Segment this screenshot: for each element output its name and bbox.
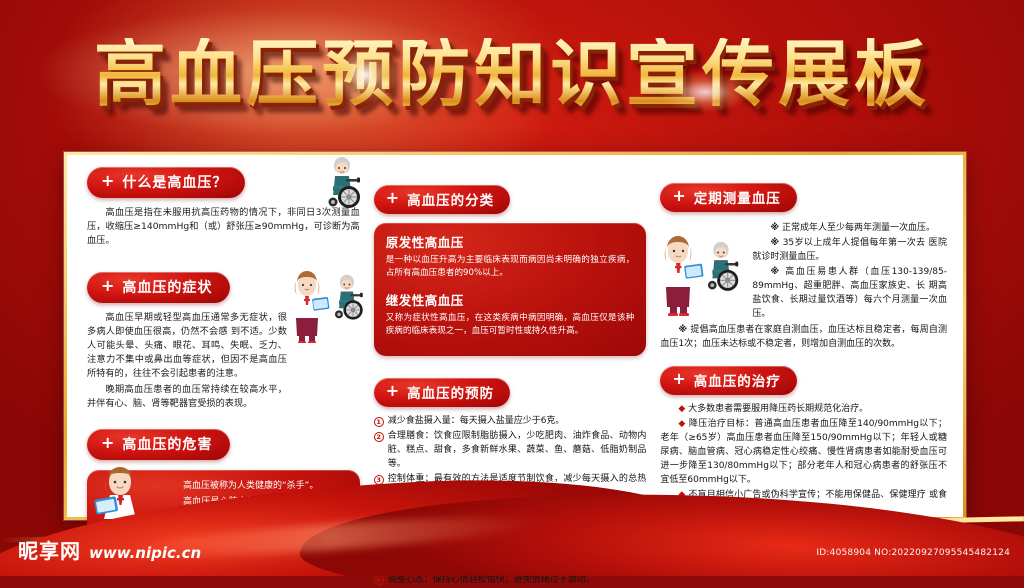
list-item-text: 提倡高血压患者在家庭自测血压，血压达标且稳定者，每周自测血压1次；血压未达标或不…: [660, 325, 947, 349]
list-item-text: 降压治疗目标：普通高血压患者血压降至140/90mmHg以下；老年（≥65岁）高…: [660, 419, 947, 485]
list-item: ※ 高血压易患人群（血压130-139/85- 89mmHg、超重肥胖、高血压家…: [752, 266, 947, 322]
paragraph: 高血压是指在未服用抗高压药物的情况下，非同日3次测量血压，收缩压≥140mmHg…: [87, 206, 360, 248]
paragraph: 高血压早期或轻型高血压通常多无症状，很多病人即使血压很高，仍然不会感 到不适。少…: [87, 311, 287, 381]
page-title: 高血压预防知识宣传展板: [94, 38, 930, 110]
nurse-and-elderly-illustration-right: [658, 230, 750, 316]
classification-item-desc: 是一种以血压升高为主要临床表现而病因尚未明确的独立疾病，占所有高血压患者的90%…: [386, 254, 635, 281]
list-item-text: 调整心态：保持心情轻松愉快，避免情绪过于激动。: [388, 575, 595, 585]
list-item: 1 减少食盐摄入量：每天摄入盐量应少于6克。: [374, 415, 647, 429]
section-heading-what-is-hypertension[interactable]: + 什么是高血压？: [87, 167, 245, 198]
list-item-text: 35岁以上成年人提倡每年第一次去 医院就诊时测量血压。: [752, 238, 947, 262]
asset-id-code: ID:4058904 NO:20220927095545482124: [816, 548, 1010, 558]
section-heading-label: 高血压的治疗: [694, 370, 781, 390]
what-is-hypertension-text: 高血压是指在未服用抗高压药物的情况下，非同日3次测量血压，收缩压≥140mmHg…: [87, 206, 360, 248]
section-heading-label: 定期测量血压: [694, 187, 781, 207]
watermark-brand: 昵享网: [18, 535, 81, 564]
section-heading-treatment[interactable]: + 高血压的治疗: [660, 366, 796, 395]
elderly-wheelchair-illustration: [316, 155, 372, 211]
list-item: ◆ 降压治疗目标：普通高血压患者血压降至140/90mmHg以下；老年（≥65岁…: [660, 418, 947, 488]
plus-icon: +: [101, 173, 115, 189]
watermark-url: www.nipic.cn: [89, 544, 201, 562]
section-heading-symptoms[interactable]: + 高血压的症状: [87, 272, 230, 303]
column-right: + 定期测量血压: [654, 163, 953, 511]
section-heading-label: 高血压的危害: [122, 434, 212, 454]
paragraph: 晚期高血压患者的血压常持续在较高水平，并伴有心、脑、肾等靶器官受损的表现。: [87, 383, 287, 411]
plus-icon: +: [672, 188, 686, 204]
section-heading-prevention[interactable]: + 高血压的预防: [374, 378, 510, 407]
list-number: 6: [374, 575, 384, 585]
classification-item-name: 原发性高血压: [386, 232, 635, 251]
section-heading-label: 高血压的分类: [407, 189, 494, 209]
list-item-text: 正常成年人至少每两年测量一次血压。: [782, 223, 935, 233]
classification-item-desc: 又称为症状性高血压，在这类疾病中病因明确，高血压仅是该种疾病的临床表现之一，血压…: [386, 312, 635, 339]
list-number: 1: [374, 417, 384, 427]
watermark: 昵享网 www.nipic.cn: [18, 535, 201, 564]
content-panel: + 什么是高血压？ 高血压是指在未服用抗高压药物的情况下，非同日3次测量血压，收…: [64, 152, 966, 520]
list-item-text: 高血压易患人群（血压130-139/85- 89mmHg、超重肥胖、高血压家族史…: [752, 267, 947, 319]
diamond-marker: ◆: [678, 404, 685, 414]
symptoms-text: 高血压早期或轻型高血压通常多无症状，很多病人即使血压很高，仍然不会感 到不适。少…: [87, 311, 287, 411]
column-middle: + 高血压的分类 原发性高血压 是一种以血压升高为主要临床表现而病因尚未明确的独…: [368, 163, 655, 511]
list-number: 2: [374, 432, 384, 442]
list-item: ※ 35岁以上成年人提倡每年第一次去 医院就诊时测量血压。: [752, 237, 947, 265]
section-heading-harm[interactable]: + 高血压的危害: [87, 429, 230, 460]
section-heading-measure[interactable]: + 定期测量血压: [660, 183, 796, 212]
list-item: 2 合理膳食：饮食应限制脂肪摄入，少吃肥肉、油炸食品、动物内脏、糕点、甜食，多食…: [374, 430, 647, 472]
plus-icon: +: [101, 278, 115, 294]
plus-icon: +: [386, 190, 400, 206]
column-left: + 什么是高血压？ 高血压是指在未服用抗高压药物的情况下，非同日3次测量血压，收…: [77, 163, 368, 511]
classification-box: 原发性高血压 是一种以血压升高为主要临床表现而病因尚未明确的独立疾病，占所有高血…: [374, 223, 647, 356]
asterisk-marker: ※: [770, 238, 779, 248]
list-item: ※ 提倡高血压患者在家庭自测血压，血压达标且稳定者，每周自测血压1次；血压未达标…: [660, 324, 947, 352]
poster-title-area: 高血压预防知识宣传展板: [0, 24, 1024, 124]
diamond-marker: ◆: [678, 419, 685, 429]
asterisk-marker: ※: [770, 267, 780, 277]
classification-item-name: 继发性高血压: [386, 290, 635, 309]
section-heading-label: 高血压的预防: [407, 382, 494, 402]
asterisk-marker: ※: [770, 223, 779, 233]
list-item-text: 大多数患者需要服用降压药长期规范化治疗。: [688, 404, 868, 414]
section-heading-label: 什么是高血压？: [122, 172, 227, 192]
list-item-text: 减少食盐摄入量：每天摄入盐量应少于6克。: [388, 416, 565, 426]
list-item: ◆ 大多数患者需要服用降压药长期规范化治疗。: [660, 403, 947, 417]
section-heading-classification[interactable]: + 高血压的分类: [374, 185, 510, 214]
plus-icon: +: [101, 435, 115, 451]
list-item: ※ 正常成年人至少每两年测量一次血压。: [752, 222, 947, 236]
plus-icon: +: [672, 371, 686, 387]
measure-top-list: ※ 正常成年人至少每两年测量一次血压。 ※ 35岁以上成年人提倡每年第一次去 医…: [752, 222, 947, 322]
measure-bottom-list: ※ 提倡高血压患者在家庭自测血压，血压达标且稳定者，每周自测血压1次；血压未达标…: [660, 324, 947, 352]
list-item-text: 合理膳食：饮食应限制脂肪摄入，少吃肥肉、油炸食品、动物内脏、糕点、甜食，多食新鲜…: [388, 431, 647, 469]
nurse-and-elderly-illustration: [288, 267, 374, 343]
plus-icon: +: [386, 383, 400, 399]
section-heading-label: 高血压的症状: [122, 277, 212, 297]
asterisk-marker: ※: [678, 325, 687, 335]
